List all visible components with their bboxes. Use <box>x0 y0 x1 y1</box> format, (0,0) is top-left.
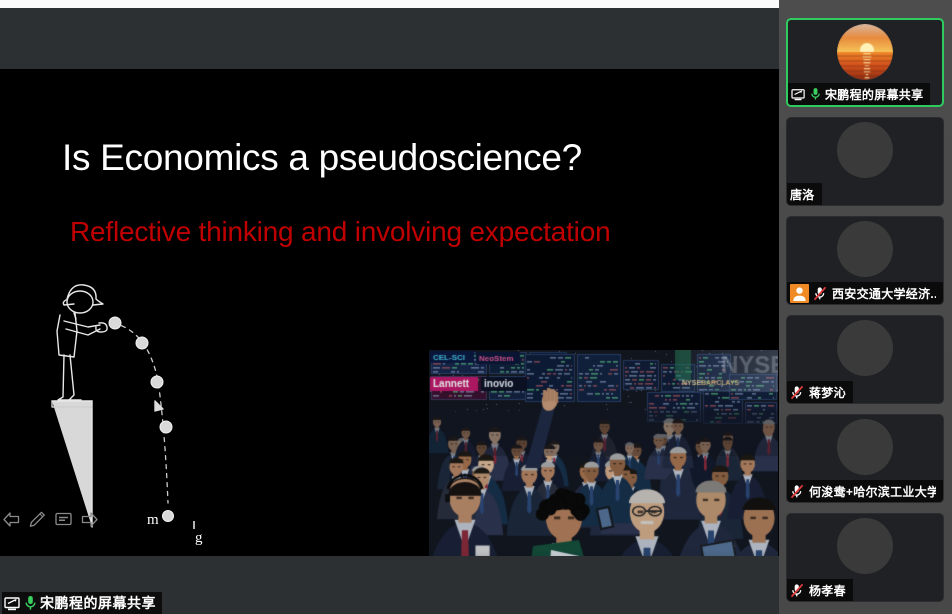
projectile-motion-svg <box>30 269 250 529</box>
participant-footer: 西安交通大学经济... <box>787 282 943 304</box>
right-arrow-icon <box>81 512 98 527</box>
avatar <box>837 122 893 178</box>
gravity-label: g <box>195 530 203 547</box>
notes-button[interactable] <box>54 510 72 528</box>
annotate-pen-button[interactable] <box>28 510 46 528</box>
share-status-text: 宋鹏程的屏幕共享 <box>40 593 156 613</box>
avatar <box>837 518 893 574</box>
screen-share-icon <box>791 88 806 101</box>
avatar <box>837 320 893 376</box>
slide-subtitle: Reflective thinking and involving expect… <box>70 216 610 248</box>
projectile-motion-diagram: m g <box>30 269 250 529</box>
participant-tile[interactable]: 宋鹏程的屏幕共享 <box>786 18 944 107</box>
participant-tile[interactable]: 何浚鸯+哈尔滨工业大学 <box>786 414 944 503</box>
microphone-muted-icon <box>790 484 805 499</box>
zoom-meeting-window: Is Economics a pseudoscience? Reflective… <box>0 0 952 614</box>
participant-tile[interactable]: 杨孝春 <box>786 513 944 602</box>
top-chrome-band <box>0 8 779 69</box>
participant-tile[interactable]: 唐洛 <box>786 117 944 206</box>
participant-footer: 唐洛 <box>787 183 822 205</box>
participant-name: 宋鹏程的屏幕共享 <box>825 86 923 103</box>
next-slide-button[interactable] <box>80 510 98 528</box>
microphone-icon <box>24 595 37 611</box>
shared-screen-stage[interactable]: Is Economics a pseudoscience? Reflective… <box>0 69 779 556</box>
participant-footer: 蒋梦沁 <box>787 381 853 403</box>
participants-strip[interactable]: 宋鹏程的屏幕共享 唐洛 <box>779 0 952 614</box>
participant-name: 西安交通大学经济... <box>832 285 936 302</box>
mass-label: m <box>147 512 159 529</box>
trading-floor-canvas <box>429 350 778 556</box>
participant-name: 杨孝春 <box>809 582 846 599</box>
slide-title: Is Economics a pseudoscience? <box>62 137 582 179</box>
annotation-toolbar[interactable] <box>2 510 98 528</box>
microphone-icon <box>810 87 821 101</box>
screen-share-icon <box>4 596 21 611</box>
left-arrow-icon <box>3 512 20 527</box>
avatar <box>837 221 893 277</box>
avatar-badge-icon <box>790 284 809 303</box>
top-white-sliver <box>0 0 779 8</box>
share-status-badge: 宋鹏程的屏幕共享 <box>2 592 162 614</box>
microphone-muted-icon <box>790 385 805 400</box>
participant-name: 蒋梦沁 <box>809 384 846 401</box>
avatar <box>837 24 893 80</box>
participant-tile[interactable]: 西安交通大学经济... <box>786 216 944 305</box>
bottom-status-bar: 宋鹏程的屏幕共享 <box>0 556 779 614</box>
participant-footer: 杨孝春 <box>787 579 853 601</box>
notes-icon <box>55 512 72 526</box>
participant-footer: 宋鹏程的屏幕共享 <box>788 83 930 105</box>
participant-name: 唐洛 <box>790 186 815 203</box>
microphone-muted-icon <box>813 286 828 301</box>
participant-footer: 何浚鸯+哈尔滨工业大学 <box>787 480 943 502</box>
avatar <box>837 419 893 475</box>
stock-exchange-trading-floor-photo <box>429 350 778 556</box>
participant-tile[interactable]: 蒋梦沁 <box>786 315 944 404</box>
participant-name: 何浚鸯+哈尔滨工业大学 <box>809 483 936 500</box>
previous-slide-button[interactable] <box>2 510 20 528</box>
pencil-icon <box>29 511 46 527</box>
microphone-muted-icon <box>790 583 805 598</box>
